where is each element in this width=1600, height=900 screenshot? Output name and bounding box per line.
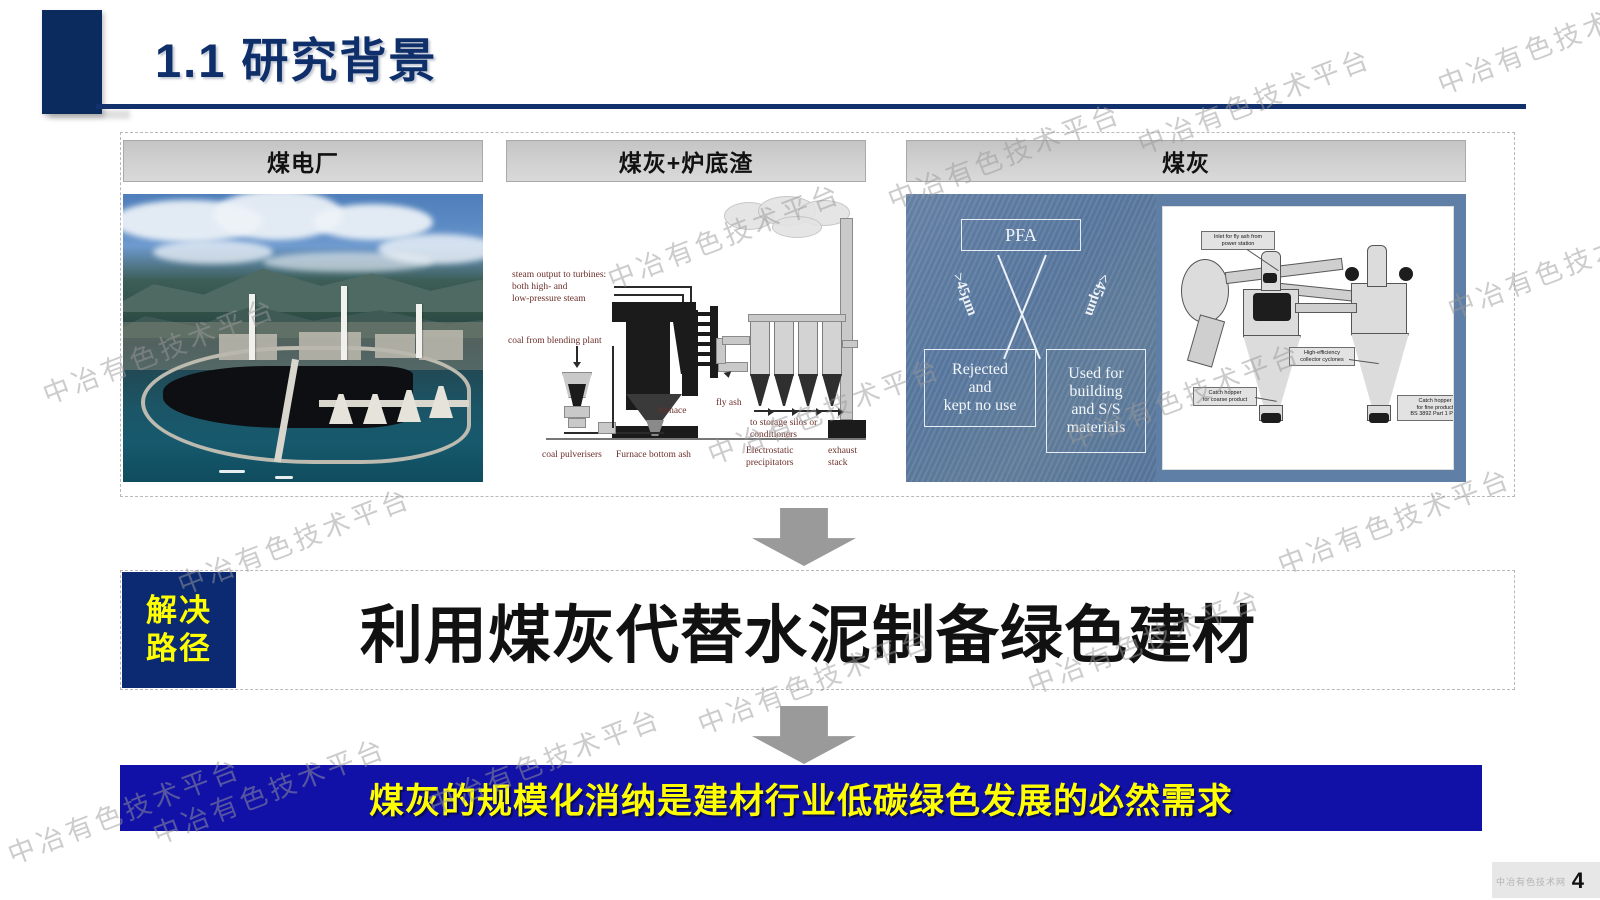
- cyclone-label-collector-cyclones: High-efficiency collector cyclones: [1289, 347, 1355, 366]
- header-accent-bar: [42, 10, 102, 114]
- cyclone-classifier-figure: Inlet for fly ash from power station Hig…: [1162, 206, 1454, 470]
- panel-header-fly-ash-bottom-slag: 煤灰+炉底渣: [506, 140, 866, 182]
- page-title: 1.1 研究背景: [155, 22, 437, 91]
- page-number: 4: [1572, 868, 1584, 894]
- schematic-label-electrostatic-precipitators: Electrostatic precipitators: [746, 446, 793, 470]
- solution-tag-line2: 路径: [146, 630, 212, 668]
- down-arrow-to-conclusion: [752, 706, 856, 764]
- fly-ash-figures: PFA >45μm <45μm Rejected and kept no use…: [906, 194, 1466, 482]
- power-station-schematic: steam output to turbines: both high- and…: [506, 194, 866, 482]
- schematic-label-steam: steam output to turbines: both high- and…: [512, 270, 606, 306]
- conclusion-banner-text: 煤灰的规模化消纳是建材行业低碳绿色发展的必然需求: [369, 773, 1233, 824]
- header-divider-rule: [96, 104, 1526, 109]
- schematic-label-storage-silos: to storage silos or conditioners: [750, 418, 817, 442]
- pfa-flow-diagram: PFA >45μm <45μm Rejected and kept no use…: [906, 194, 1156, 482]
- cyclone-label-fine-hopper: Catch hopper for fine product BS 3892 Pa…: [1397, 395, 1454, 421]
- schematic-label-coal-feed: coal from blending plant: [508, 336, 602, 348]
- panel-header-fly-ash: 煤灰: [906, 140, 1466, 182]
- schematic-label-furnace: furnace: [658, 406, 686, 418]
- solution-tag-badge: 解决 路径: [122, 572, 236, 688]
- pfa-edge-label-fine: <45μm: [1080, 271, 1112, 319]
- corner-watermark-text: 中冶有色技术网: [1496, 875, 1566, 888]
- pfa-node-used-for-building: Used for building and S/S materials: [1046, 349, 1146, 453]
- panel-body-fly-ash: PFA >45μm <45μm Rejected and kept no use…: [906, 194, 1466, 482]
- panel-fly-ash: 煤灰 PFA >45μm <45μm Rejected and kept no …: [906, 140, 1466, 482]
- schematic-label-fly-ash: fly ash: [716, 398, 742, 410]
- schematic-label-coal-pulverisers: coal pulverisers: [542, 450, 602, 462]
- panel-coal-power-plant: 煤电厂: [123, 140, 483, 482]
- pfa-root-node: PFA: [961, 219, 1081, 251]
- down-arrow-to-solution: [752, 508, 856, 566]
- schematic-label-exhaust-stack: exhaust stack: [828, 446, 857, 470]
- solution-statement: 利用煤灰代替水泥制备绿色建材: [360, 582, 1360, 678]
- pfa-node-rejected: Rejected and kept no use: [924, 349, 1036, 427]
- panel-fly-ash-bottom-slag: 煤灰+炉底渣: [506, 140, 866, 482]
- panel-header-coal-power-plant: 煤电厂: [123, 140, 483, 182]
- cyclone-label-coarse-hopper: Catch hopper for coarse product: [1193, 387, 1257, 406]
- cyclone-label-inlet: Inlet for fly ash from power station: [1201, 231, 1275, 250]
- watermark-text: 中冶有色技术平台: [1431, 0, 1600, 102]
- process-panels-container: 煤电厂: [120, 132, 1515, 497]
- panel-body-coal-power-plant: [123, 194, 483, 482]
- pfa-edge-label-coarse: >45μm: [948, 271, 980, 319]
- schematic-label-furnace-bottom-ash: Furnace bottom ash: [616, 450, 691, 462]
- conclusion-banner: 煤灰的规模化消纳是建材行业低碳绿色发展的必然需求: [120, 765, 1482, 831]
- coal-power-plant-photo: [123, 194, 483, 482]
- panel-body-fly-ash-bottom-slag: steam output to turbines: both high- and…: [506, 194, 866, 482]
- solution-tag-line1: 解决: [146, 592, 212, 630]
